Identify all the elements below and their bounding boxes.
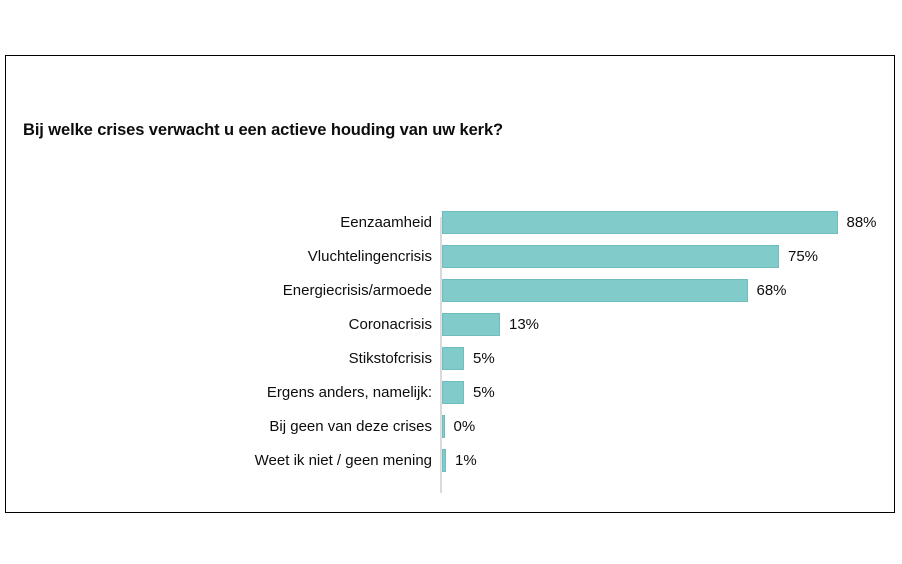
bar-row: Ergens anders, namelijk:5%: [6, 381, 896, 415]
bar-fill: [442, 347, 465, 370]
bar-category-label: Bij geen van deze crises: [269, 415, 432, 438]
bar-row: Energiecrisis/armoede68%: [6, 279, 896, 313]
bar-fill: [442, 449, 447, 472]
bar: [442, 347, 465, 370]
bar-row: Coronacrisis13%: [6, 313, 896, 347]
bar-row: Weet ik niet / geen mening1%: [6, 449, 896, 483]
bar-value-label: 5%: [473, 347, 495, 370]
bar-fill: [442, 211, 838, 234]
bar: [442, 313, 501, 336]
bar-row: Vluchtelingencrisis75%: [6, 245, 896, 279]
bar-category-label: Eenzaamheid: [340, 211, 432, 234]
bar: [442, 245, 780, 268]
bar-category-label: Weet ik niet / geen mening: [255, 449, 432, 472]
bar-value-label: 1%: [455, 449, 477, 472]
bar: [442, 211, 838, 234]
bar-fill: [442, 313, 501, 336]
slide-frame: Bij welke crises verwacht u een actieve …: [5, 55, 895, 513]
bar-row: Stikstofcrisis5%: [6, 347, 896, 381]
chart-title: Bij welke crises verwacht u een actieve …: [23, 121, 503, 140]
bar: [442, 449, 447, 472]
bar-category-label: Stikstofcrisis: [349, 347, 432, 370]
chart-plot-area: Eenzaamheid88%Vluchtelingencrisis75%Ener…: [6, 211, 896, 501]
bar-value-label: 5%: [473, 381, 495, 404]
bar-value-label: 75%: [788, 245, 818, 268]
bar-category-label: Energiecrisis/armoede: [283, 279, 432, 302]
bar-category-label: Ergens anders, namelijk:: [267, 381, 432, 404]
bar-row: Bij geen van deze crises0%: [6, 415, 896, 449]
bar-fill: [442, 245, 780, 268]
bar-category-label: Vluchtelingencrisis: [308, 245, 432, 268]
bar-value-label: 13%: [509, 313, 539, 336]
bar-value-label: 68%: [757, 279, 787, 302]
bar: [442, 415, 445, 438]
bar-fill: [442, 381, 465, 404]
bar: [442, 381, 465, 404]
bar: [442, 279, 748, 302]
bar-fill: [442, 279, 748, 302]
bar-category-label: Coronacrisis: [349, 313, 432, 336]
bar-fill: [442, 415, 445, 438]
bar-row: Eenzaamheid88%: [6, 211, 896, 245]
bar-value-label: 88%: [847, 211, 877, 234]
bar-value-label: 0%: [454, 415, 476, 438]
